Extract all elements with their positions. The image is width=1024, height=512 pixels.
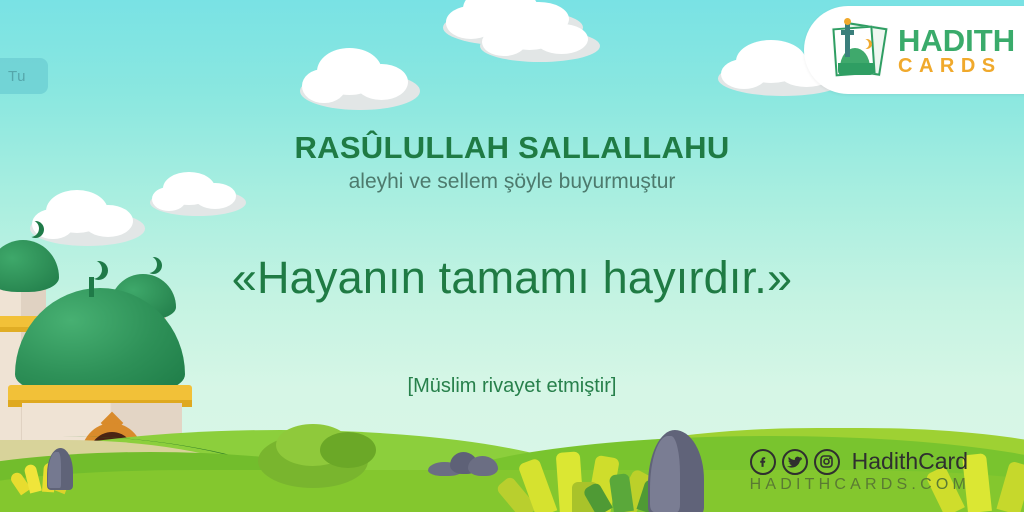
logo-primary-text: HADITH xyxy=(898,25,1015,56)
mosque-photo-cards-icon xyxy=(828,19,890,81)
cloud-icon xyxy=(480,10,600,62)
logo-secondary-text: CARDS xyxy=(898,56,1015,76)
footer-url: HADITHCARDS.COM xyxy=(750,476,970,494)
brand-logo[interactable]: HADITH CARDS xyxy=(804,6,1024,94)
hadith-source: [Müslim rivayet etmiştir] xyxy=(0,375,1024,398)
rock xyxy=(468,456,498,476)
language-badge-label: Tu xyxy=(8,68,26,85)
hadith-card: Tu HADITH CARDS RASÛLULLAH SALLALLAHU al… xyxy=(0,0,1024,512)
cloud-icon xyxy=(300,48,420,110)
instagram-icon[interactable] xyxy=(814,449,840,475)
facebook-icon[interactable] xyxy=(750,449,776,475)
twitter-icon[interactable] xyxy=(782,449,808,475)
headline: RASÛLULLAH SALLALLAHU xyxy=(0,130,1024,166)
crescent-icon xyxy=(859,39,869,49)
footer-brand: HadithCard xyxy=(852,448,968,475)
subheadline: aleyhi ve sellem şöyle buyurmuştur xyxy=(0,170,1024,194)
hadith-quote: «Hayanın tamamı hayırdır.» xyxy=(0,252,1024,304)
language-badge[interactable]: Tu xyxy=(0,58,48,94)
rock-highlight xyxy=(48,452,61,488)
cloud-icon xyxy=(30,190,145,246)
crescent-icon xyxy=(22,220,39,237)
bush xyxy=(320,432,376,468)
footer: HadithCard HADITHCARDS.COM xyxy=(750,448,970,494)
